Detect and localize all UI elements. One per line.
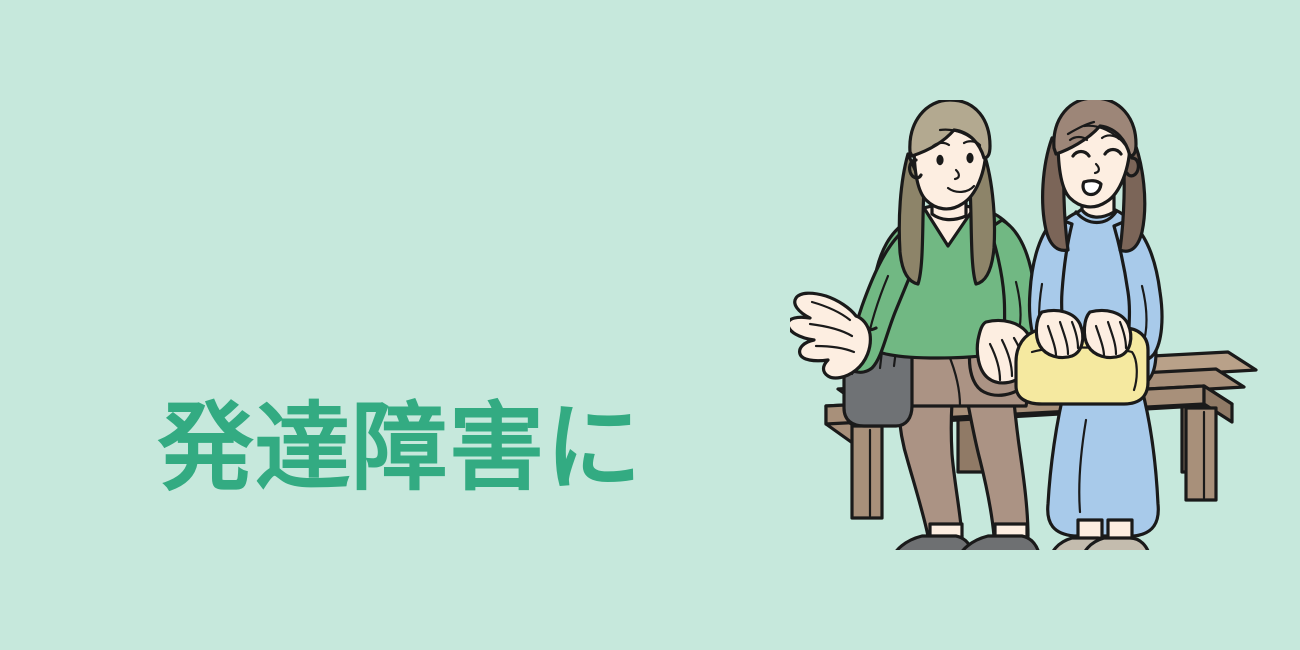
woman-left-green-sweater <box>790 100 1040 550</box>
woman-right-blue-dress <box>1016 100 1162 550</box>
open-hand-gesture <box>790 293 870 378</box>
page-title: 発達障害に ついて打ち明け られたら <box>0 128 800 650</box>
banner-root: 発達障害に ついて打ち明け られたら .ol { stroke:#1a1a1a;… <box>0 0 1300 650</box>
illustration-two-women-on-bench: .ol { stroke:#1a1a1a; stroke-width:3.2; … <box>790 100 1290 550</box>
headline-line-1: 発達障害に <box>0 384 800 512</box>
